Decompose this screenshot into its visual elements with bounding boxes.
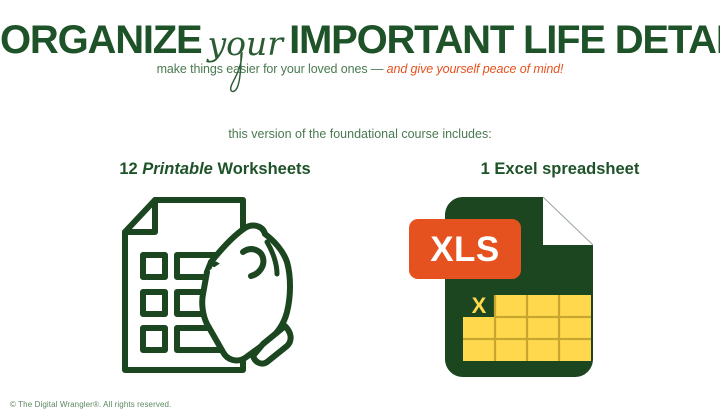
grid-x-mark: X <box>472 293 487 318</box>
intro-text: this version of the foundational course … <box>0 127 720 141</box>
checklist-document-with-hand-icon <box>115 192 315 380</box>
header-banner: ORGANIZEyourIMPORTANT LIFE DETAILS make … <box>0 0 720 100</box>
spreadsheet-heading-text: 1 Excel spreadsheet <box>481 160 640 178</box>
worksheets-heading-emphasis: Printable <box>142 160 213 178</box>
xls-badge: XLS <box>409 219 521 279</box>
worksheets-heading: 12 Printable Worksheets <box>0 160 430 179</box>
xls-badge-label: XLS <box>430 230 500 269</box>
xls-file-icon: X XLS <box>403 193 599 383</box>
spreadsheet-heading: 1 Excel spreadsheet <box>400 160 720 179</box>
worksheets-heading-prefix: 12 <box>119 160 142 178</box>
worksheets-heading-suffix: Worksheets <box>213 160 311 178</box>
page-title: ORGANIZEyourIMPORTANT LIFE DETAILS <box>0 20 720 60</box>
spreadsheet-grid: X <box>463 293 591 361</box>
subtitle-primary: make things easier for your loved ones — <box>157 62 387 76</box>
page-subtitle: make things easier for your loved ones —… <box>0 62 720 76</box>
subtitle-accent: and give yourself peace of mind! <box>387 62 564 76</box>
headline-part-two: IMPORTANT LIFE DETAILS <box>289 18 720 62</box>
copyright-notice: © The Digital Wrangler®. All rights rese… <box>10 400 171 409</box>
headline-part-one: ORGANIZE <box>0 18 202 62</box>
